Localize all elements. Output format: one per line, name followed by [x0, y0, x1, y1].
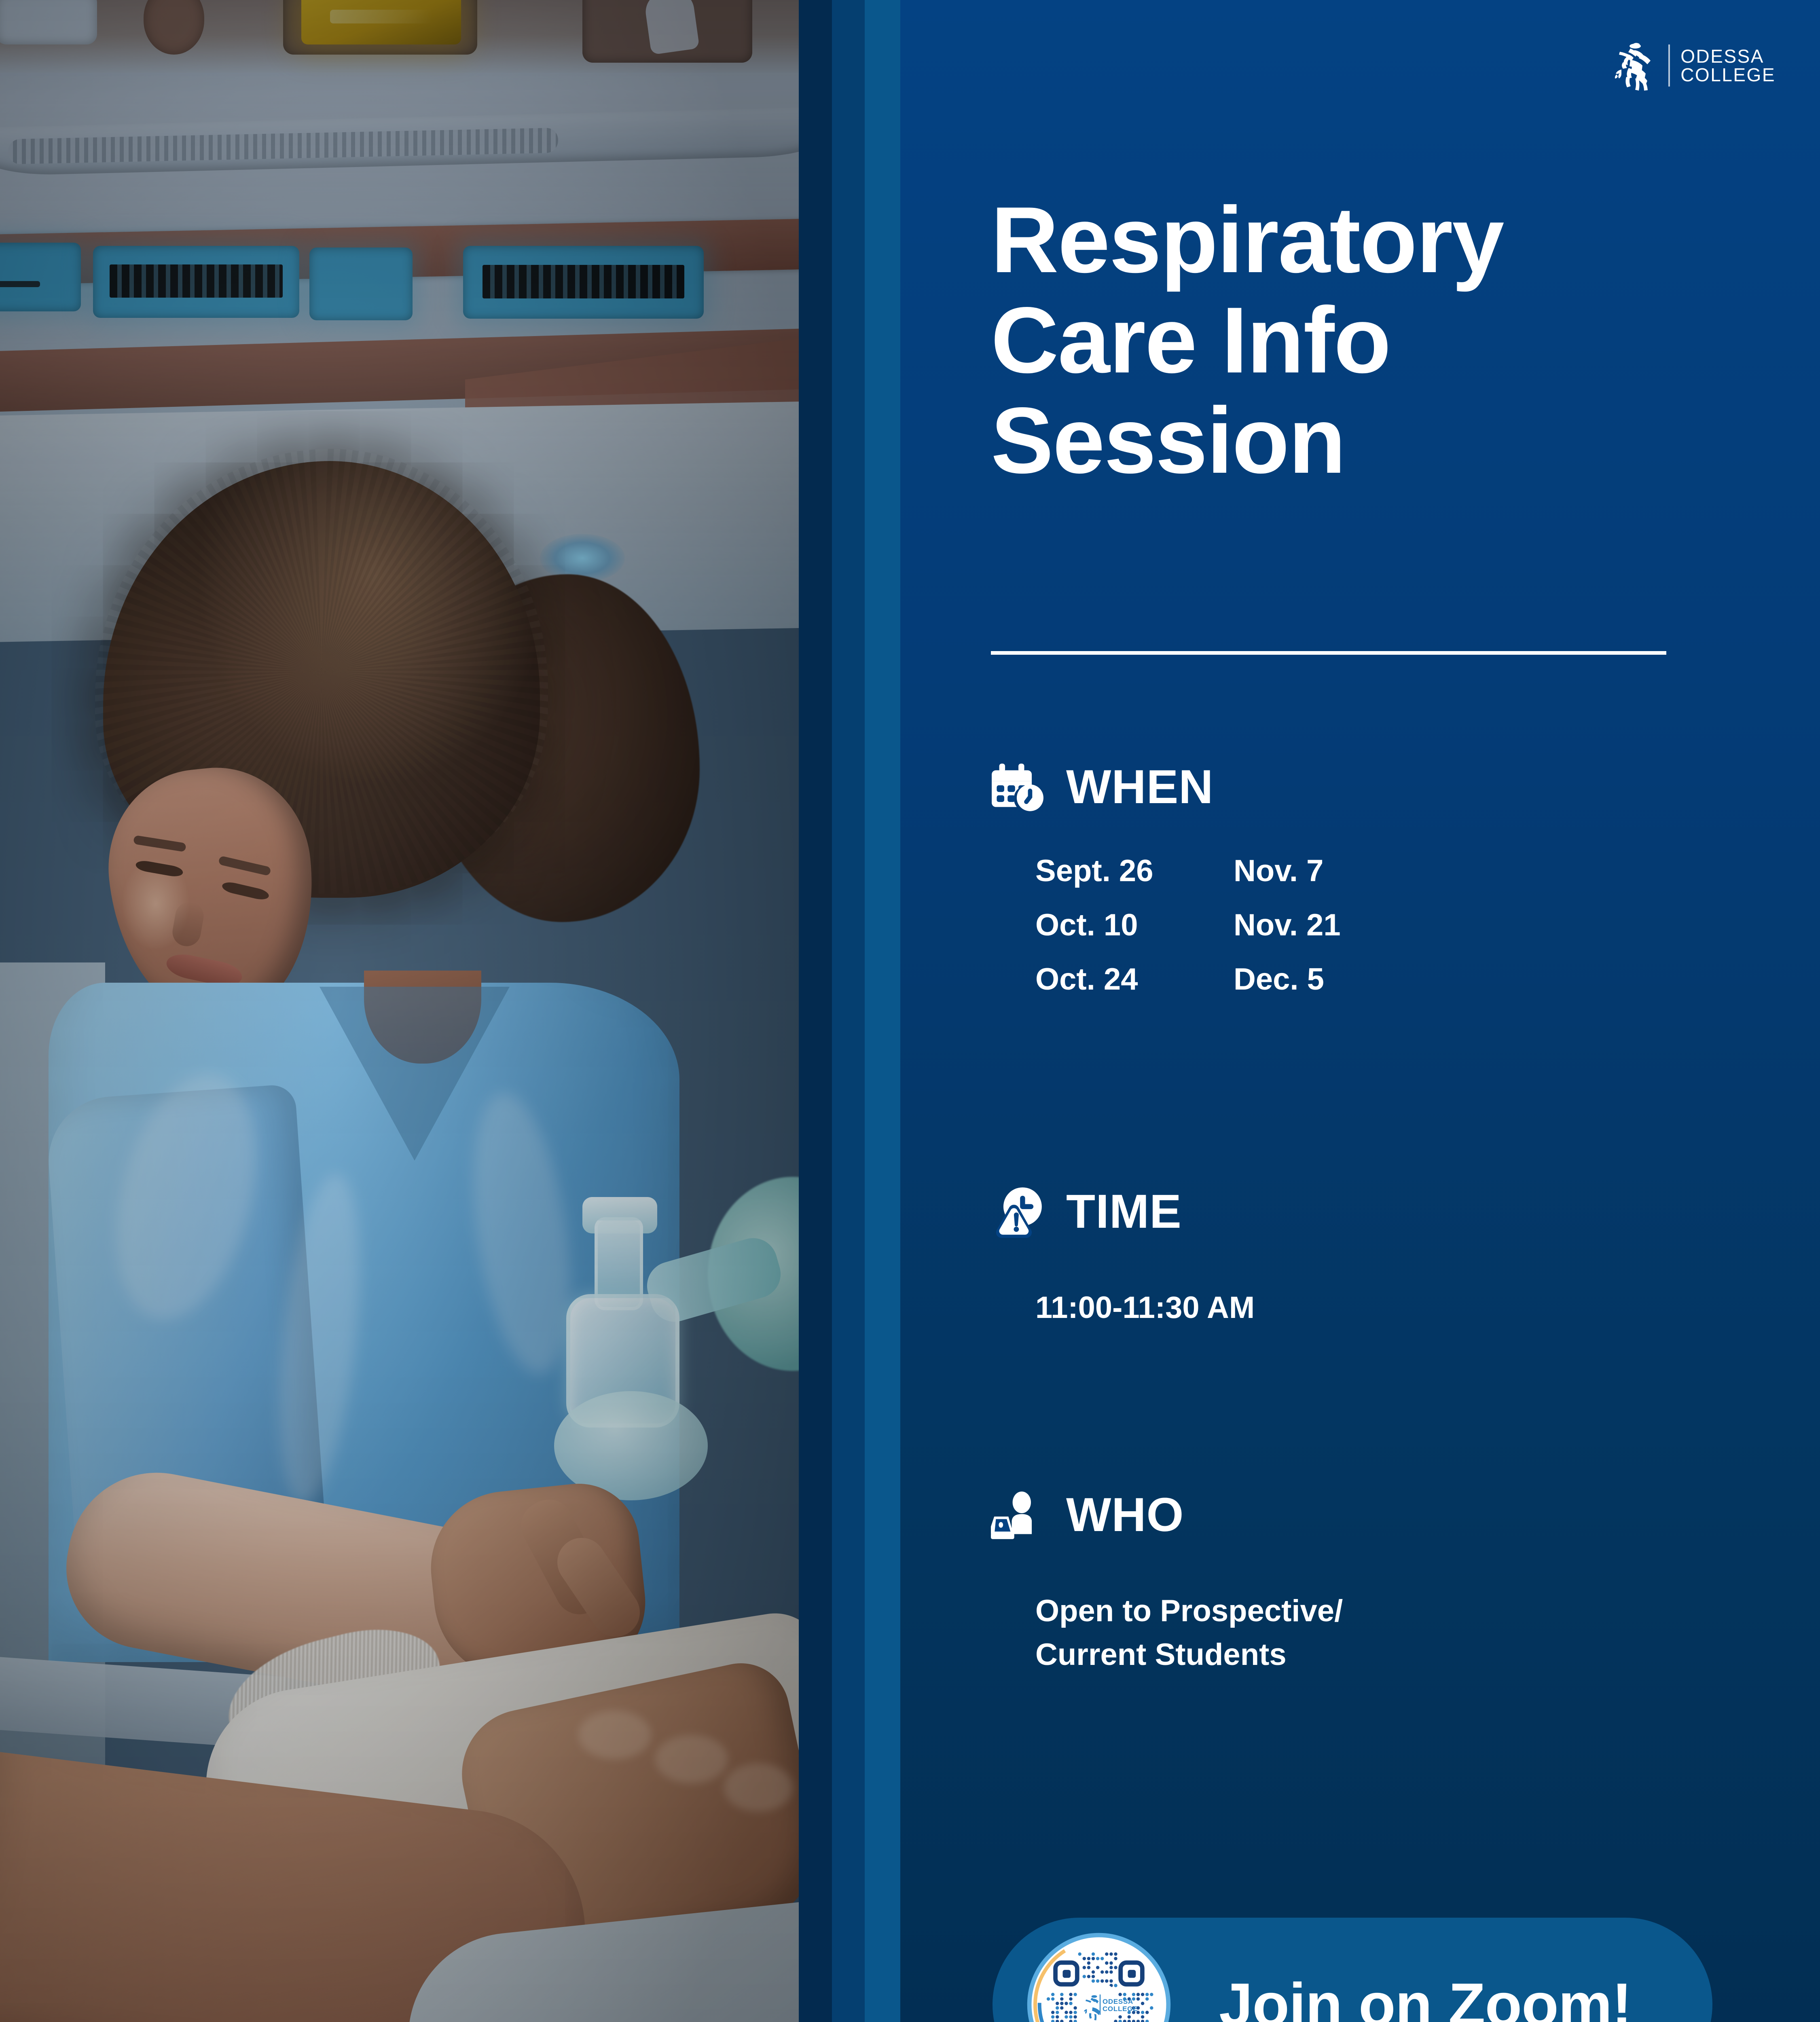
who-line-1: Open to Prospective/	[1035, 1589, 1759, 1633]
accent-band-mid	[832, 0, 865, 2022]
date-item: Sept. 26	[1035, 856, 1234, 886]
section-time: TIME 11:00-11:30 AM	[991, 1185, 1759, 1330]
bronco-rider-icon	[1614, 40, 1658, 91]
time-value: 11:00-11:30 AM	[1035, 1286, 1759, 1330]
flowcode-qr-code[interactable]: ODESSA COLLEGE PRIVACY.FLOWCODE.COM	[1026, 1932, 1171, 2022]
accent-band-dark	[799, 0, 832, 2022]
when-dates-grid: Sept. 26 Nov. 7 Oct. 10 Nov. 21 Oct. 24 …	[1035, 856, 1759, 995]
section-who-title: WHO	[1066, 1491, 1184, 1539]
section-time-header: TIME	[991, 1185, 1759, 1238]
photo-vignette	[0, 0, 799, 2022]
person-laptop-icon	[991, 1488, 1044, 1542]
section-time-title: TIME	[1066, 1188, 1182, 1235]
title-line-1: Respiratory	[991, 190, 1719, 290]
time-value-wrap: 11:00-11:30 AM	[1035, 1286, 1759, 1330]
title-line-3: Session	[991, 391, 1719, 491]
logo-line-1: ODESSA	[1680, 47, 1776, 66]
who-body: Open to Prospective/ Current Students	[1035, 1589, 1759, 1677]
info-panel: ODESSA COLLEGE Respiratory Care Info Ses…	[900, 0, 1820, 2022]
section-who-header: WHO	[991, 1488, 1759, 1542]
clock-alert-icon	[991, 1185, 1044, 1238]
calendar-clock-icon	[991, 760, 1044, 814]
poster-root: ODESSA COLLEGE Respiratory Care Info Ses…	[0, 0, 1820, 2022]
section-who: WHO Open to Prospective/ Current Student…	[991, 1488, 1759, 1677]
brand-logo: ODESSA COLLEGE	[1614, 40, 1776, 91]
logo-line-2: COLLEGE	[1680, 66, 1776, 84]
logo-wordmark: ODESSA COLLEGE	[1680, 47, 1776, 84]
page-title: Respiratory Care Info Session	[991, 190, 1719, 491]
qr-logo-line-2: COLLEGE	[1103, 2005, 1138, 2013]
who-line-2: Current Students	[1035, 1633, 1759, 1677]
title-divider	[991, 651, 1666, 655]
qr-logo-line-1: ODESSA	[1103, 1998, 1133, 2005]
section-when: WHEN Sept. 26 Nov. 7 Oct. 10 Nov. 21 Oct…	[991, 760, 1759, 995]
accent-band-light	[865, 0, 900, 2022]
hero-photo	[0, 0, 799, 2022]
date-item: Dec. 5	[1234, 964, 1759, 995]
logo-divider	[1668, 44, 1670, 87]
join-on-zoom-label: Join on Zoom!	[1219, 1970, 1632, 2022]
date-item: Nov. 21	[1234, 910, 1759, 941]
date-item: Nov. 7	[1234, 856, 1759, 886]
date-item: Oct. 10	[1035, 910, 1234, 941]
section-when-title: WHEN	[1066, 763, 1214, 811]
section-when-header: WHEN	[991, 760, 1759, 814]
title-line-2: Care Info	[991, 290, 1719, 391]
date-item: Oct. 24	[1035, 964, 1234, 995]
join-on-zoom-button[interactable]: ODESSA COLLEGE PRIVACY.FLOWCODE.COM Join…	[993, 1918, 1712, 2022]
